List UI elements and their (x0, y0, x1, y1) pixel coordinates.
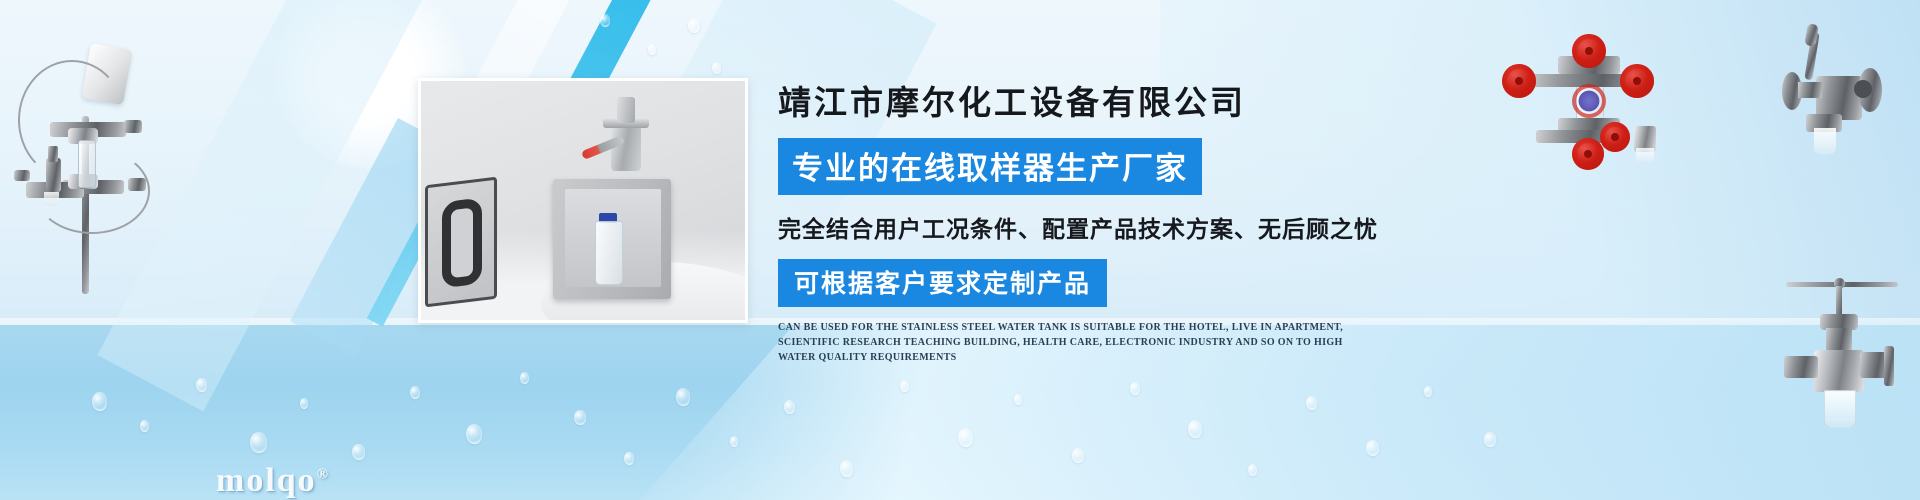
right-product-needle-valve (1784, 282, 1904, 442)
banner-copy: 靖江市摩尔化工设备有限公司 专业的在线取样器生产厂家 完全结合用户工况条件、配置… (778, 76, 1398, 365)
right-product-cross-valve (1496, 34, 1686, 164)
left-product-image (6, 24, 166, 294)
callout-row: 可根据客户要求定制产品 (778, 259, 1398, 307)
watermark-text: molqo (216, 462, 317, 499)
headline-row: 专业的在线取样器生产厂家 (778, 138, 1398, 195)
center-product-photo (418, 78, 748, 323)
promotional-banner: 靖江市摩尔化工设备有限公司 专业的在线取样器生产厂家 完全结合用户工况条件、配置… (0, 0, 1920, 500)
company-name: 靖江市摩尔化工设备有限公司 (778, 76, 1398, 124)
callout-pill: 可根据客户要求定制产品 (778, 259, 1107, 307)
right-product-lever-valve (1774, 20, 1906, 170)
registered-mark-icon: ® (317, 467, 330, 483)
brand-watermark: molqo® (216, 462, 330, 500)
sub-headline: 完全结合用户工况条件、配置产品技术方案、无后顾之忧 (778, 210, 1398, 244)
headline-pill: 专业的在线取样器生产厂家 (778, 138, 1202, 195)
fineprint-text: CAN BE USED FOR THE STAINLESS STEEL WATE… (778, 320, 1378, 365)
